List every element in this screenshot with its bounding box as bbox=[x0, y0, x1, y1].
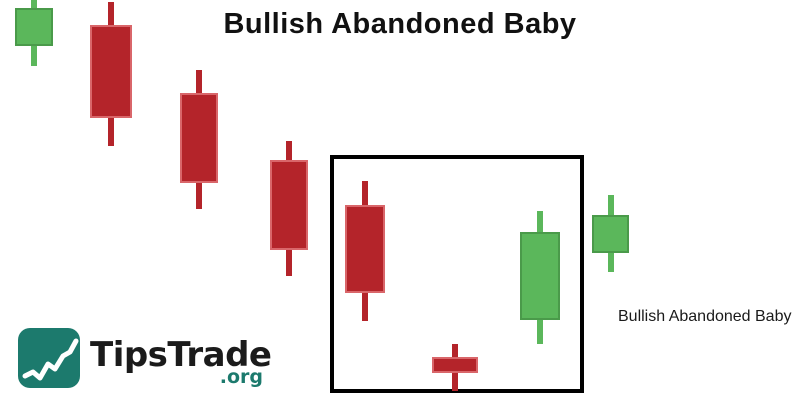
candle-body bbox=[90, 25, 132, 118]
logo-tld: .org bbox=[220, 366, 263, 388]
candlestick-pattern-figure: Bullish Abandoned Baby Bullish Abandoned… bbox=[0, 0, 800, 400]
candle-8-bullish bbox=[592, 195, 629, 272]
candle-7-bullish-long bbox=[520, 211, 560, 344]
candle-6-doji-abandoned-baby bbox=[432, 344, 478, 391]
candle-3-bearish bbox=[180, 70, 218, 209]
candle-4-bearish bbox=[270, 141, 308, 276]
candle-body bbox=[180, 93, 218, 183]
logo-wordmark: TipsTrade .org bbox=[90, 328, 265, 388]
candle-2-bearish bbox=[90, 2, 132, 146]
candle-1-bullish bbox=[15, 0, 53, 66]
candle-body bbox=[270, 160, 308, 250]
candle-5-bearish-long bbox=[345, 181, 385, 321]
candle-body bbox=[345, 205, 385, 293]
line-chart-icon bbox=[18, 328, 80, 388]
candle-body bbox=[520, 232, 560, 320]
candle-body bbox=[592, 215, 629, 253]
candle-body bbox=[432, 357, 478, 373]
candle-body bbox=[15, 8, 53, 46]
pattern-annotation-label: Bullish Abandoned Baby bbox=[618, 306, 798, 327]
brand-logo: TipsTrade .org bbox=[18, 328, 265, 388]
